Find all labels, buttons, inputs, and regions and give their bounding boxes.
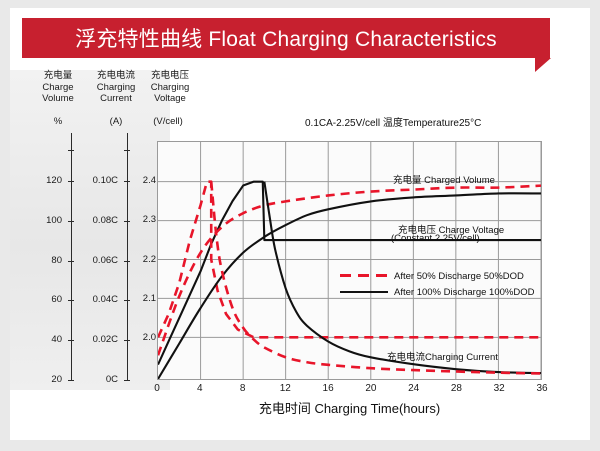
tick-label-volume-40: 40 bbox=[32, 334, 62, 345]
tick-label-current-5: 0.10C bbox=[82, 175, 118, 186]
tick-current-top bbox=[124, 150, 130, 151]
tick-label-volume-20: 20 bbox=[32, 374, 62, 385]
tick-label-x-4: 4 bbox=[188, 383, 212, 394]
tick-label-volume-60: 60 bbox=[32, 294, 62, 305]
tick-current-1 bbox=[124, 340, 130, 341]
tick-volume-20 bbox=[68, 380, 74, 381]
tick-current-4 bbox=[124, 221, 130, 222]
x-axis-title: 充电时间 Charging Time(hours) bbox=[157, 398, 542, 417]
axis-line-charge-volume bbox=[71, 133, 72, 381]
tick-label-x-24: 24 bbox=[402, 383, 426, 394]
tick-volume-40 bbox=[68, 340, 74, 341]
chart-legend: After 50% Discharge 50%DOD After 100% Di… bbox=[340, 268, 534, 300]
axis-line-charging-current bbox=[127, 133, 128, 381]
tick-label-voltage-2.1: 2.1 bbox=[134, 293, 156, 304]
legend-label-1: After 100% Discharge 100%DOD bbox=[394, 287, 534, 298]
tick-label-current-4: 0.08C bbox=[82, 215, 118, 226]
tick-label-volume-120: 120 bbox=[32, 175, 62, 186]
annotation-conditions: 0.1CA-2.25V/cell 温度Temperature25°C bbox=[305, 114, 481, 129]
title-banner: 浮充特性曲线 Float Charging Characteristics bbox=[22, 18, 550, 58]
tick-label-x-16: 16 bbox=[316, 383, 340, 394]
tick-current-3 bbox=[124, 261, 130, 262]
annotation-charging-current: 充电电流Charging Current bbox=[387, 349, 498, 363]
tick-label-x-28: 28 bbox=[444, 383, 468, 394]
axis-header-charge-volume: 充电量 Charge Volume bbox=[32, 70, 84, 105]
axis-header-charging-voltage: 充电电压 Charging Voltage bbox=[142, 70, 198, 105]
legend-item-0: After 50% Discharge 50%DOD bbox=[340, 268, 534, 284]
tick-label-x-12: 12 bbox=[273, 383, 297, 394]
axis-unit-charge-volume: % bbox=[32, 116, 84, 127]
tick-label-x-32: 32 bbox=[487, 383, 511, 394]
banner-tail bbox=[535, 58, 551, 72]
tick-current-0 bbox=[124, 380, 130, 381]
tick-volume-100 bbox=[68, 221, 74, 222]
tick-label-current-1: 0.02C bbox=[82, 334, 118, 345]
tick-label-voltage-2.2: 2.2 bbox=[134, 254, 156, 265]
tick-label-current-3: 0.06C bbox=[82, 255, 118, 266]
page-title: 浮充特性曲线 Float Charging Characteristics bbox=[22, 18, 550, 58]
tick-label-x-36: 36 bbox=[530, 383, 554, 394]
tick-volume-120 bbox=[68, 181, 74, 182]
axis-unit-charging-current: (A) bbox=[88, 116, 144, 127]
legend-label-0: After 50% Discharge 50%DOD bbox=[394, 271, 524, 282]
tick-label-current-0: 0C bbox=[82, 374, 118, 385]
axis-unit-charging-voltage: (V/cell) bbox=[138, 116, 198, 127]
tick-label-volume-100: 100 bbox=[32, 215, 62, 226]
tick-volume-60 bbox=[68, 300, 74, 301]
tick-volume-top bbox=[68, 150, 74, 151]
tick-label-voltage-2.3: 2.3 bbox=[134, 214, 156, 225]
tick-label-voltage-2.4: 2.4 bbox=[134, 175, 156, 186]
annotation-charge-voltage-sub: (Constant 2.25V/cell) bbox=[391, 233, 480, 244]
tick-current-2 bbox=[124, 300, 130, 301]
tick-current-5 bbox=[124, 181, 130, 182]
annotation-charged-volume: 充电量 Charged Volume bbox=[393, 172, 495, 186]
legend-swatch-solid bbox=[340, 287, 388, 297]
tick-label-x-0: 0 bbox=[145, 383, 169, 394]
tick-label-current-2: 0.04C bbox=[82, 294, 118, 305]
tick-label-volume-80: 80 bbox=[32, 255, 62, 266]
legend-item-1: After 100% Discharge 100%DOD bbox=[340, 284, 534, 300]
tick-label-voltage-2: 2.0 bbox=[134, 332, 156, 343]
tick-volume-80 bbox=[68, 261, 74, 262]
tick-label-x-8: 8 bbox=[231, 383, 255, 394]
tick-label-x-20: 20 bbox=[359, 383, 383, 394]
axis-header-charging-current: 充电电流 Charging Current bbox=[88, 70, 144, 105]
legend-swatch-dash bbox=[340, 271, 388, 281]
